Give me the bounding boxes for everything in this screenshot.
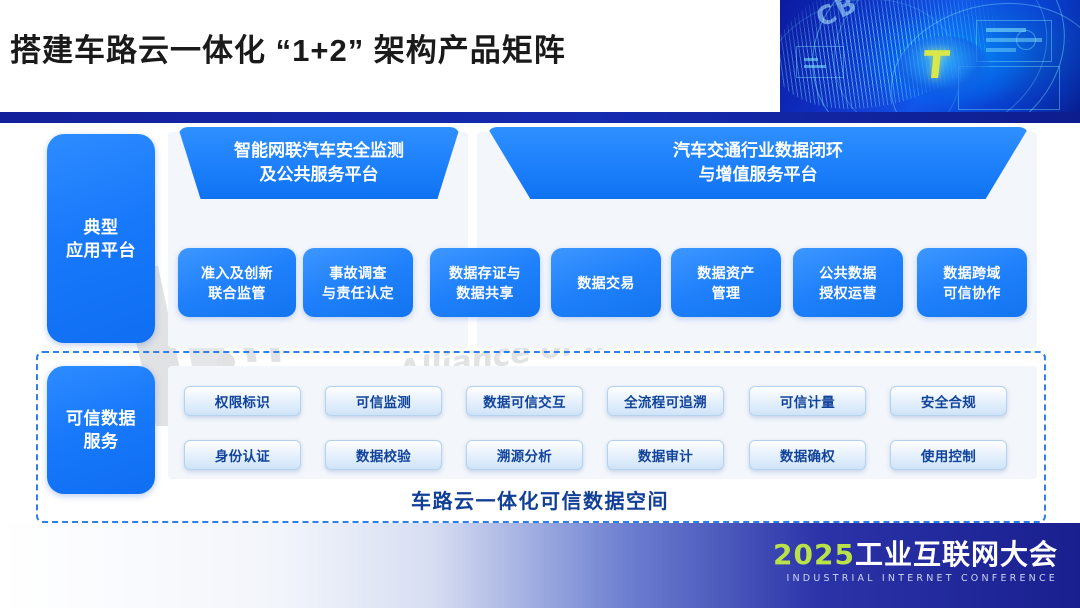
hud-dot-icon xyxy=(804,65,826,68)
tds-chip-r1-4[interactable]: 全流程可追溯 xyxy=(607,386,724,416)
platform-banner-2[interactable]: 汽车交通行业数据闭环与增值服务平台 xyxy=(487,127,1029,199)
tds-chip-r2-3[interactable]: 溯源分析 xyxy=(466,440,583,470)
platform-banner-1[interactable]: 智能网联汽车安全监测及公共服务平台 xyxy=(178,127,460,199)
app-card-4[interactable]: 数据交易 xyxy=(551,248,661,317)
t-logo-icon: T xyxy=(921,46,951,84)
app-card-1[interactable]: 准入及创新联合监管 xyxy=(178,248,296,317)
hud-panel-icon xyxy=(796,46,844,78)
tds-chip-r1-1[interactable]: 权限标识 xyxy=(184,386,301,416)
conference-logo: 2025工业互联网大会 INDUSTRIAL INTERNET CONFEREN… xyxy=(773,540,1058,584)
app-card-3[interactable]: 数据存证与数据共享 xyxy=(430,248,540,317)
app-card-7[interactable]: 数据跨域可信协作 xyxy=(917,248,1027,317)
header-divider-bar xyxy=(0,112,1080,123)
tds-chip-r2-6[interactable]: 使用控制 xyxy=(890,440,1007,470)
tds-chip-r1-3[interactable]: 数据可信交互 xyxy=(466,386,583,416)
conference-year: 2025 xyxy=(773,538,855,571)
tds-chip-r2-2[interactable]: 数据校验 xyxy=(325,440,442,470)
header-decorative-tech-graphic: CB T xyxy=(780,0,1080,112)
hud-bar-icon xyxy=(986,48,1016,52)
app-card-2[interactable]: 事故调查与责任认定 xyxy=(303,248,413,317)
diagram-stage: 互联网产业联盟 Alliance of Industrial Internet … xyxy=(0,123,1080,523)
hud-circle-icon xyxy=(1016,30,1036,50)
tds-chip-r1-6[interactable]: 安全合规 xyxy=(890,386,1007,416)
tds-chip-r2-1[interactable]: 身份认证 xyxy=(184,440,301,470)
app-card-6[interactable]: 公共数据授权运营 xyxy=(793,248,903,317)
app-card-5[interactable]: 数据资产管理 xyxy=(671,248,781,317)
sidebar-label-application-platform: 典型应用平台 xyxy=(47,134,155,343)
slide-footer: 2025工业互联网大会 INDUSTRIAL INTERNET CONFEREN… xyxy=(0,523,1080,608)
conference-name-cn: 工业互联网大会 xyxy=(855,539,1058,570)
tds-chip-r1-2[interactable]: 可信监测 xyxy=(325,386,442,416)
hud-dot-icon xyxy=(804,58,818,61)
slide-header: CB T 搭建车路云一体化 “1+2” 架构产品矩阵 xyxy=(0,0,1080,112)
page-title: 搭建车路云一体化 “1+2” 架构产品矩阵 xyxy=(10,25,566,70)
tds-chip-r2-5[interactable]: 数据确权 xyxy=(749,440,866,470)
tds-chip-r1-5[interactable]: 可信计量 xyxy=(749,386,866,416)
tds-chip-r2-4[interactable]: 数据审计 xyxy=(607,440,724,470)
conference-name-en: INDUSTRIAL INTERNET CONFERENCE xyxy=(773,573,1058,584)
trusted-data-space-caption: 车路云一体化可信数据空间 xyxy=(0,485,1080,514)
